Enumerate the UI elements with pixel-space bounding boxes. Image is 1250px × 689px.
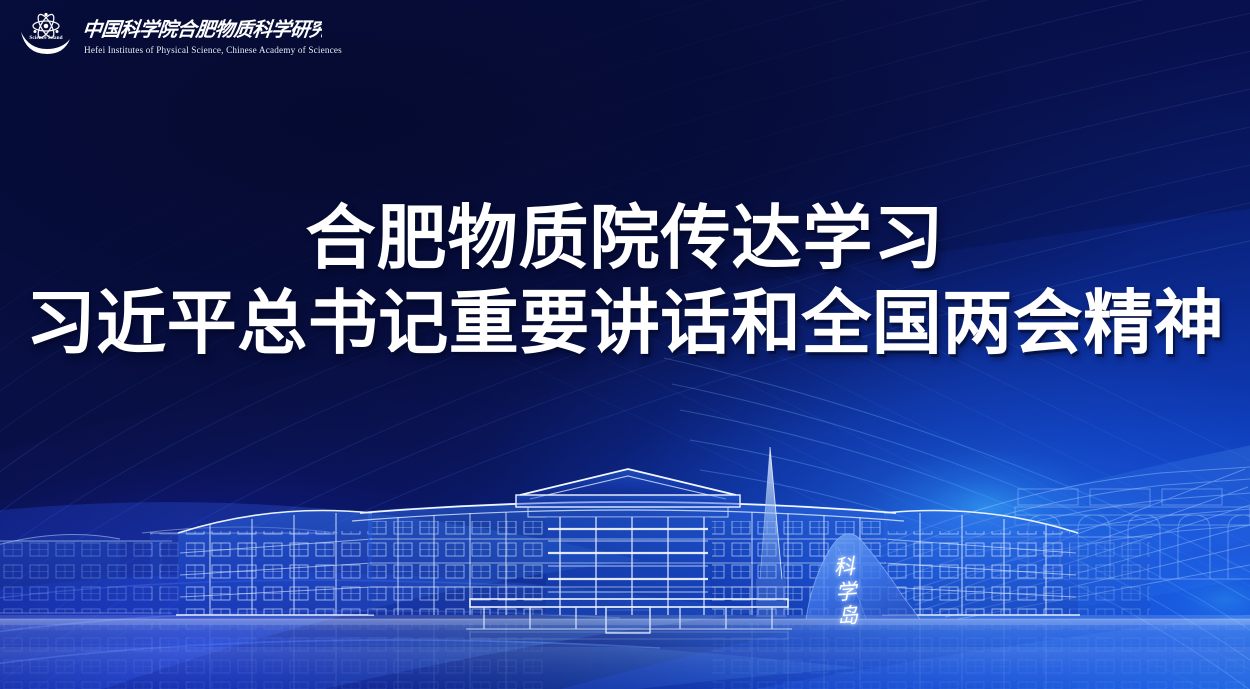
svg-text:中国科学院合肥物质科学研究院: 中国科学院合肥物质科学研究院: [84, 18, 322, 41]
svg-text:Science Island: Science Island: [29, 35, 62, 41]
island-label-char-2: 学: [835, 580, 858, 604]
campus-illustration: [0, 429, 1250, 689]
poster-title: 合肥物质院传达学习 习近平总书记重要讲话和全国两会精神: [0, 196, 1250, 367]
institute-name-cn: 中国科学院合肥物质科学研究院: [84, 15, 322, 43]
institute-logo[interactable]: Science Island 中国科学院合肥物质科学研究院 Hefei Inst…: [18, 8, 342, 60]
island-label-char-1: 科: [833, 555, 856, 579]
title-line-2: 习近平总书记重要讲话和全国两会精神: [0, 281, 1250, 366]
island-label-char-3: 岛: [836, 605, 859, 629]
institute-name-block: 中国科学院合肥物质科学研究院 Hefei Institutes of Physi…: [84, 13, 342, 55]
title-line-1: 合肥物质院传达学习: [0, 196, 1250, 281]
atom-crescent-icon: Science Island: [18, 8, 74, 60]
poster-root: 科 学 岛 Science Island 中国科学院合肥物质科学研究院 Hefe…: [0, 0, 1250, 689]
island-label: 科 学 岛: [824, 555, 869, 630]
institute-name-en: Hefei Institutes of Physical Science, Ch…: [84, 46, 342, 55]
